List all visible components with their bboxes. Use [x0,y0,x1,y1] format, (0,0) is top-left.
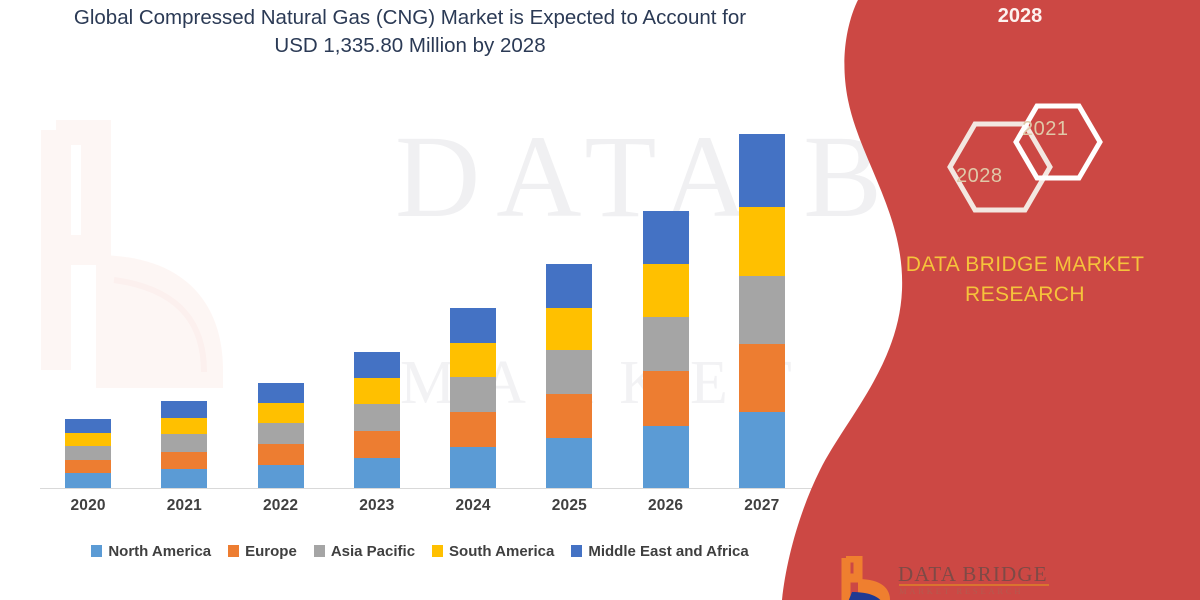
bar-segment [739,276,785,344]
legend-item[interactable]: Asia Pacific [314,543,415,560]
chart-legend: North AmericaEuropeAsia PacificSouth Ame… [40,538,800,564]
bar-segment [643,264,689,317]
stacked-bar[interactable] [450,308,496,488]
bar-segment [450,377,496,412]
bar-column-2024 [425,90,521,488]
bar-segment [65,446,111,460]
bar-segment [258,403,304,423]
stacked-bar[interactable] [65,419,111,488]
bar-segment [643,371,689,425]
x-axis-label-2023: 2023 [329,497,425,523]
bar-column-2023 [329,90,425,488]
data-bridge-logo: DATA BRIDGE MARKET RESEARCH [838,556,1078,600]
bar-segment [161,452,207,469]
bar-segment [354,378,400,404]
legend-swatch-icon [432,545,443,557]
bar-segment [450,343,496,377]
legend-label: Europe [245,543,297,560]
bar-segment [739,412,785,488]
bar-segment [643,426,689,488]
stacked-bar[interactable] [258,383,304,488]
bar-segment [258,465,304,488]
x-axis-label-2020: 2020 [40,497,136,523]
bar-segment [258,383,304,404]
stacked-bar[interactable] [546,264,592,488]
x-axis-labels: 20202021202220232024202520262027 [40,497,810,523]
x-axis-label-2027: 2027 [714,497,810,523]
stacked-bar[interactable] [354,352,400,488]
legend-label: North America [108,543,211,560]
legend-label: South America [449,543,554,560]
bar-segment [161,401,207,418]
bar-segment [739,344,785,412]
bar-segment [65,433,111,446]
stacked-bar[interactable] [161,401,207,488]
bar-segment [450,412,496,447]
bar-segment [354,431,400,458]
x-axis-label-2022: 2022 [233,497,329,523]
x-axis-label-2026: 2026 [618,497,714,523]
legend-label: Middle East and Africa [588,543,748,560]
hexagon-group: 2028 2021 [920,95,1120,240]
bar-segment [546,394,592,438]
bar-segment [161,418,207,434]
panel-brand-name: DATA BRIDGE MARKET RESEARCH [880,250,1170,310]
bar-segment [450,308,496,343]
legend-item[interactable]: Europe [228,543,297,560]
panel-heading: (CNG) Market, By Regions, 2021 to 2028 [855,0,1185,31]
hex-label-2028: 2028 [956,165,1003,188]
bar-segment [739,207,785,275]
legend-label: Asia Pacific [331,543,415,560]
x-axis-line [40,488,815,489]
bar-segment [546,308,592,350]
legend-swatch-icon [571,545,582,557]
bar-segment [450,447,496,488]
legend-item[interactable]: North America [91,543,211,560]
logo-tagline: MARKET RESEARCH [899,586,1023,596]
hexagons-icon [920,95,1120,240]
bar-column-2021 [136,90,232,488]
bar-segment [258,423,304,444]
stacked-bar[interactable] [739,134,785,488]
bar-segment [65,419,111,433]
bar-segment [546,264,592,307]
legend-swatch-icon [314,545,325,557]
bar-column-2026 [618,90,714,488]
bar-segment [354,404,400,431]
hex-label-2021: 2021 [1022,118,1069,141]
bar-segment [643,317,689,371]
bar-segment [739,134,785,207]
x-axis-label-2025: 2025 [521,497,617,523]
bar-segment [546,350,592,394]
bar-column-2025 [521,90,617,488]
legend-item[interactable]: Middle East and Africa [571,543,748,560]
bar-segment [161,469,207,488]
bar-segment [65,460,111,474]
stacked-bar[interactable] [643,211,689,488]
bar-segment [258,444,304,465]
bar-segment [354,458,400,488]
bar-segment [643,211,689,265]
bar-column-2027 [714,90,810,488]
chart-title: Global Compressed Natural Gas (CNG) Mark… [60,4,760,61]
infographic-canvas: DATA BRIDGE MARKET Global Compressed Nat… [0,0,1200,600]
legend-swatch-icon [91,545,102,557]
legend-item[interactable]: South America [432,543,554,560]
bar-segment [161,434,207,451]
bar-column-2020 [40,90,136,488]
bar-chart-plot [40,90,810,488]
bar-segment [546,438,592,488]
bar-segment [65,473,111,488]
legend-swatch-icon [228,545,239,557]
x-axis-label-2021: 2021 [136,497,232,523]
logo-b-icon [838,556,896,600]
x-axis-label-2024: 2024 [425,497,521,523]
bar-segment [354,352,400,378]
bar-column-2022 [233,90,329,488]
